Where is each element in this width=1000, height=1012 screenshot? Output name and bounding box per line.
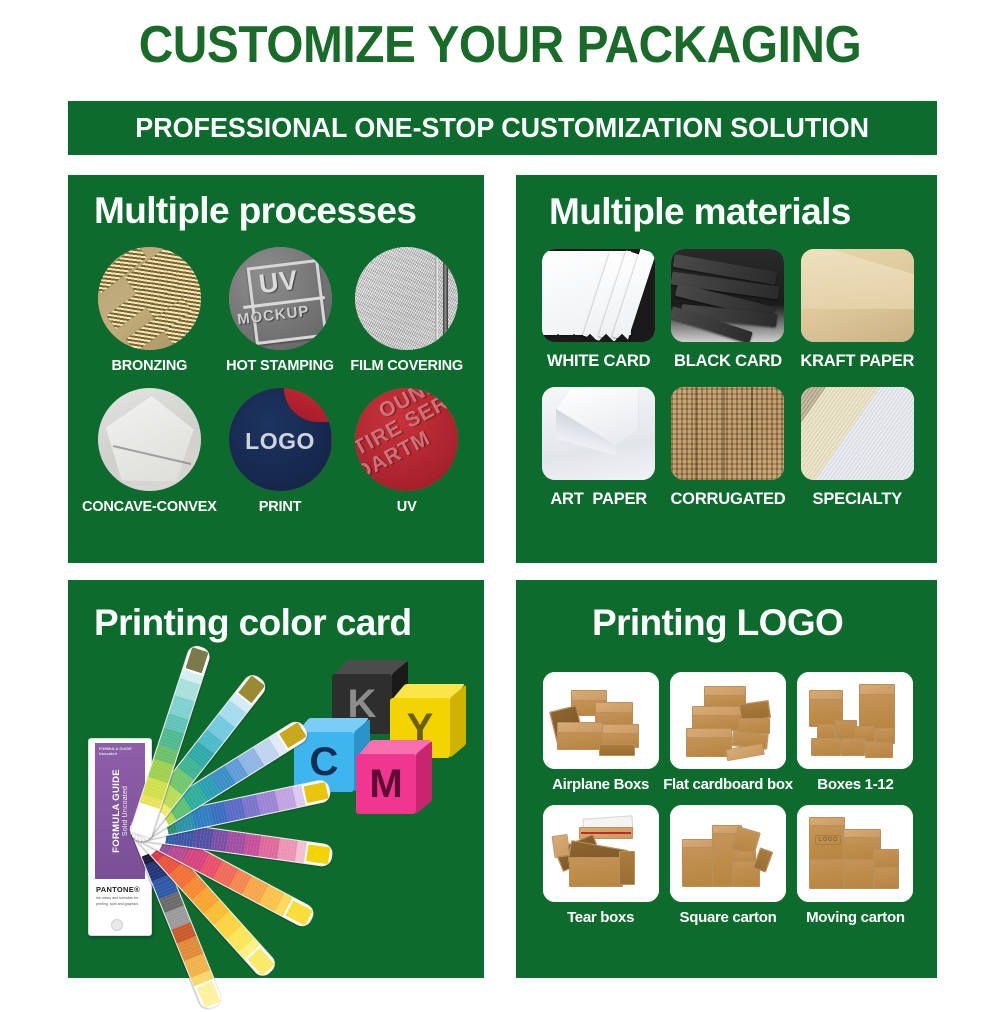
sticker-logo-text: LOGO bbox=[229, 428, 332, 455]
item-label: CONCAVE-CONVEX bbox=[82, 499, 217, 515]
item-label: BLACK CARD bbox=[674, 352, 782, 371]
item-label: Boxes 1-12 bbox=[817, 776, 893, 793]
list-item[interactable]: Boxes 1-12 bbox=[793, 672, 918, 793]
list-item[interactable]: CONCAVE-CONVEX bbox=[82, 388, 217, 515]
panel-title-color-card: Printing color card bbox=[68, 580, 510, 644]
pantone-fine-print: ink colors and formulas for printing, sp… bbox=[96, 896, 142, 908]
panel-multiple-processes: Multiple processes BRONZING UVMOCKUP bbox=[68, 175, 484, 563]
box-logo-text: LOGO bbox=[815, 835, 841, 845]
panel-printing-color-card: Printing color card FORMULA GUIDE Uncoat… bbox=[68, 580, 484, 978]
cover-subtitle: Solid Uncoated bbox=[122, 769, 129, 853]
kraft-paper-sheet-icon bbox=[801, 249, 914, 342]
list-item[interactable]: CORRUGATED bbox=[663, 387, 792, 509]
item-label: UV bbox=[397, 499, 417, 515]
film-covering-texture-icon bbox=[355, 247, 458, 350]
item-label: Tear boxs bbox=[567, 909, 634, 926]
page-title: CUSTOMIZE YOUR PACKAGING bbox=[40, 18, 960, 73]
item-label: Flat cardboard box bbox=[663, 776, 793, 793]
list-item[interactable]: Flat cardboard box bbox=[663, 672, 793, 793]
list-item[interactable]: OUND TIRE SER DARTM UV bbox=[343, 388, 470, 515]
item-label: WHITE CARD bbox=[547, 352, 650, 371]
cube-letter: M bbox=[356, 754, 416, 814]
list-item[interactable]: UVMOCKUP HOT STAMPING bbox=[217, 247, 344, 374]
moving-carton-logo-icon: LOGO bbox=[797, 805, 913, 902]
subtitle-text: PROFESSIONAL ONE-STOP CUSTOMIZATION SOLU… bbox=[136, 112, 870, 144]
printed-logo-sticker-icon: LOGO bbox=[229, 388, 332, 491]
specialty-paper-swatches-icon bbox=[801, 387, 914, 480]
panel-title-printing-logo: Printing LOGO bbox=[516, 580, 1000, 644]
item-label: KRAFT PAPER bbox=[800, 352, 914, 371]
panel-title-processes: Multiple processes bbox=[68, 175, 510, 232]
panel-title-materials: Multiple materials bbox=[516, 175, 970, 233]
packaging-customization-poster: CUSTOMIZE YOUR PACKAGING PROFESSIONAL ON… bbox=[0, 0, 1000, 1000]
list-item[interactable]: BRONZING bbox=[82, 247, 217, 374]
item-label: PRINT bbox=[259, 499, 302, 515]
cover-top-line-2: Uncoated bbox=[99, 752, 117, 756]
list-item[interactable]: KRAFT PAPER bbox=[793, 249, 922, 371]
white-card-sheets-icon bbox=[542, 249, 655, 342]
cmyk-cubes-group: K Y C M bbox=[280, 660, 480, 860]
list-item[interactable]: ART PAPER bbox=[534, 387, 663, 509]
spot-uv-red-emboss-icon: OUND TIRE SER DARTM bbox=[355, 388, 458, 491]
item-label: Moving carton bbox=[806, 909, 905, 926]
item-label: BRONZING bbox=[111, 358, 187, 374]
list-item[interactable]: BLACK CARD bbox=[663, 249, 792, 371]
cover-title: FORMULA GUIDE bbox=[111, 769, 122, 853]
list-item[interactable]: WHITE CARD bbox=[534, 249, 663, 371]
item-label: ART PAPER bbox=[550, 490, 647, 509]
item-label: Airplane Boxs bbox=[552, 776, 649, 793]
square-carton-stack-icon bbox=[670, 805, 786, 902]
list-item[interactable]: LOGO Moving carton bbox=[793, 805, 918, 926]
corrugated-board-icon bbox=[671, 387, 784, 480]
hot-stamping-uv-mockup-icon: UVMOCKUP bbox=[229, 247, 332, 350]
airplane-box-stack-icon bbox=[543, 672, 659, 769]
art-paper-block-icon bbox=[542, 387, 655, 480]
list-item[interactable]: SPECIALTY bbox=[793, 387, 922, 509]
list-item[interactable]: Tear boxs bbox=[538, 805, 663, 926]
cover-top-line-1: FORMULA GUIDE bbox=[99, 747, 132, 751]
item-label: HOT STAMPING bbox=[226, 358, 334, 374]
list-item[interactable]: FILM COVERING bbox=[343, 247, 470, 374]
item-label: FILM COVERING bbox=[350, 358, 463, 374]
magenta-cube: M bbox=[356, 740, 430, 814]
list-item[interactable]: LOGO PRINT bbox=[217, 388, 344, 515]
item-label: CORRUGATED bbox=[670, 490, 785, 509]
list-item[interactable]: Square carton bbox=[663, 805, 793, 926]
item-label: SPECIALTY bbox=[813, 490, 903, 509]
panel-multiple-materials: Multiple materials WHITE CARD bbox=[516, 175, 937, 563]
panel-printing-logo: Printing LOGO bbox=[516, 580, 937, 978]
tear-strip-box-icon bbox=[543, 805, 659, 902]
fan-pivot-hole bbox=[111, 919, 123, 931]
flat-cardboard-box-stack-icon bbox=[670, 672, 786, 769]
bronzing-foil-icon bbox=[98, 247, 201, 350]
black-card-sheets-icon bbox=[671, 249, 784, 342]
item-label: Square carton bbox=[680, 909, 777, 926]
boxes-size-range-icon bbox=[797, 672, 913, 769]
embossed-pentagon-icon bbox=[98, 388, 201, 491]
list-item[interactable]: Airplane Boxs bbox=[538, 672, 663, 793]
subtitle-banner: PROFESSIONAL ONE-STOP CUSTOMIZATION SOLU… bbox=[68, 101, 937, 155]
pantone-brand: PANTONE® bbox=[96, 885, 144, 894]
